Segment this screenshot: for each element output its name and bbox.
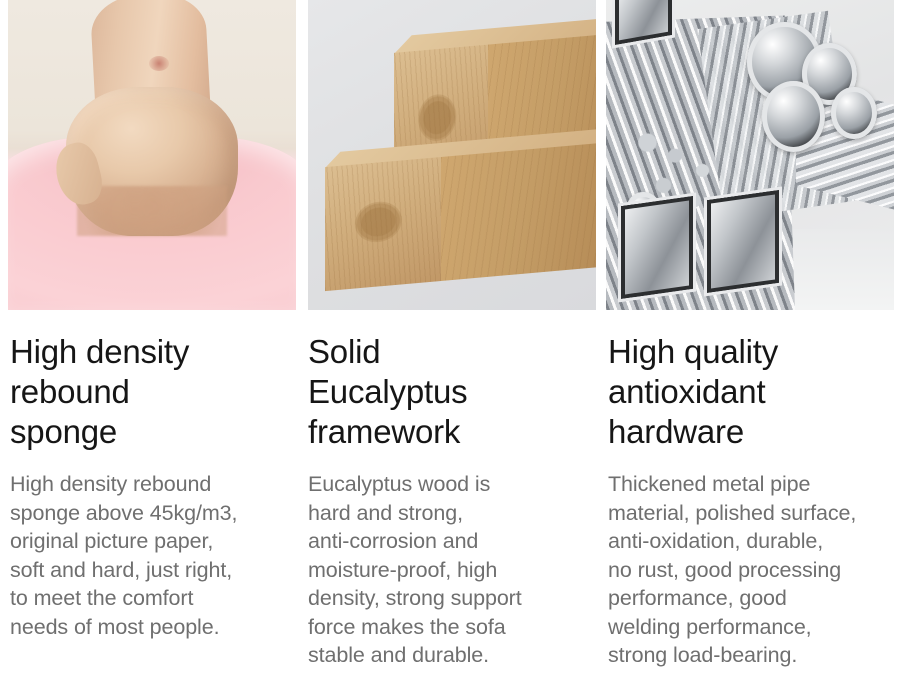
eucalyptus-photo-art	[308, 0, 596, 310]
round-pipe	[831, 87, 877, 140]
feature-body: Eucalyptus wood is hard and strong, anti…	[308, 452, 588, 670]
feature-text-sponge: High density rebound sponge High density…	[10, 310, 290, 641]
feature-heading: High density rebound sponge	[10, 310, 290, 452]
feature-body: Thickened metal pipe material, polished …	[608, 452, 888, 670]
square-tube	[704, 187, 782, 297]
feature-columns-banner: High density rebound sponge High density…	[0, 0, 900, 682]
feature-heading: High quality antioxidant hardware	[608, 310, 888, 452]
feature-column-sponge: High density rebound sponge High density…	[0, 0, 300, 682]
feature-column-hardware: High quality antioxidant hardware Thicke…	[600, 0, 900, 682]
feature-heading: Solid Eucalyptus framework	[308, 310, 588, 452]
feature-column-eucalyptus: Solid Eucalyptus framework Eucalyptus wo…	[300, 0, 600, 682]
hardware-photo-art	[606, 0, 894, 310]
solid-eucalyptus-framework-photo	[308, 0, 596, 310]
round-pipe	[762, 81, 825, 152]
feature-text-eucalyptus: Solid Eucalyptus framework Eucalyptus wo…	[308, 310, 588, 670]
feature-body: High density rebound sponge above 45kg/m…	[10, 452, 290, 641]
lower-block-side	[441, 143, 596, 281]
lower-block-end-grain	[325, 157, 441, 291]
square-tube	[618, 193, 696, 303]
high-density-rebound-sponge-photo	[8, 0, 296, 310]
sponge-photo-art	[8, 0, 296, 310]
lower-timber-block	[325, 143, 596, 291]
feature-text-hardware: High quality antioxidant hardware Thicke…	[608, 310, 888, 670]
antioxidant-hardware-photo	[606, 0, 894, 310]
